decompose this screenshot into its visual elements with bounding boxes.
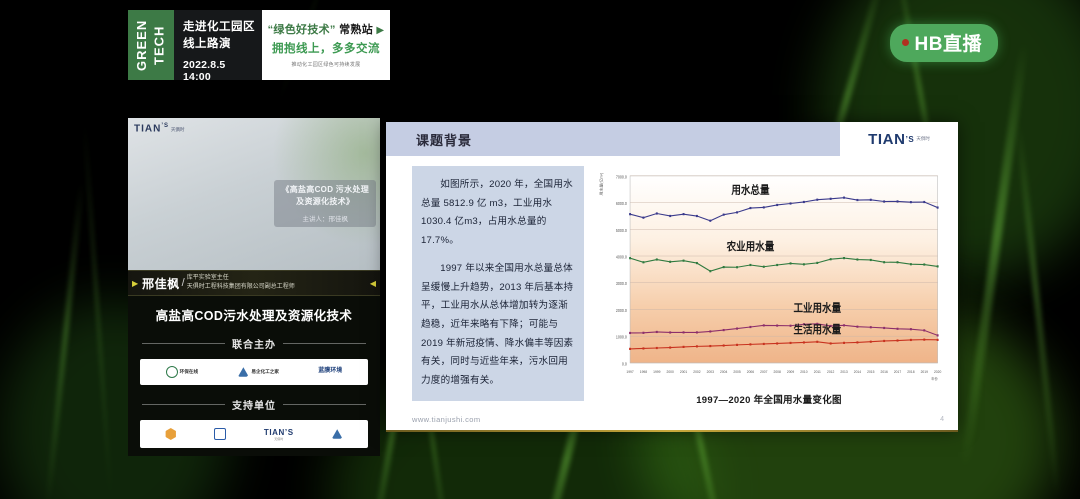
svg-text:2001: 2001 [680,370,687,374]
svg-text:2012: 2012 [827,370,834,374]
presentation-slide[interactable]: 课题背景 TIAN’S天俱时 如图所示，2020 年，全国用水总量 5812.9… [386,122,958,430]
slide-header: 课题背景 TIAN’S天俱时 [386,122,958,156]
video-title-overlay: 《高盐高COD 污水处理 及资源化技术》 主讲人：邢佳枫 [274,180,376,227]
svg-text:2000: 2000 [667,370,674,374]
svg-text:2014: 2014 [854,370,861,374]
svg-text:2010: 2010 [800,370,807,374]
coorganizer-logo-strip: 环保在线 易企化工之家 蓝膜环境 [140,359,368,385]
tians-support-name: TIAN’S [264,428,294,437]
live-badge-label: HB直播 [915,29,982,56]
svg-text:6000.0: 6000.0 [616,201,628,206]
svg-text:1997: 1997 [626,370,633,374]
watermark-text: TIAN [134,123,161,134]
overlay-title-line2: 及资源化技术》 [281,196,369,208]
svg-text:2016: 2016 [881,370,888,374]
banner-event-line1: 走进化工园区 [183,19,256,36]
svg-text:2004: 2004 [720,370,727,374]
greentech-line2: TECH [152,25,167,64]
slide-logo-sup: ’S [906,135,915,144]
svg-text:1999: 1999 [653,370,660,374]
svg-text:用水总量: 用水总量 [730,183,770,197]
coorganizer-section-heading: 联合主办 [128,336,380,351]
slide-logo-sub: 天俱时 [916,136,930,142]
banner-slogan: “绿色好技术” 常熟站 ▶ 拥抱线上，多多交流 推动化工园区绿色可持续发展 [262,10,390,80]
slide-title: 课题背景 [416,130,472,149]
support-section-heading: 支持单位 [128,397,380,412]
banner-slogan-station: 常熟站 [336,24,373,36]
slide-page-number: 4 [940,416,944,423]
banner-slogan-line2: 拥抱线上，多多交流 [266,40,386,56]
arrow-left-icon: ◀ [370,279,376,288]
shield-logo-icon [214,428,226,440]
overlay-title-line1: 《高盐高COD 污水处理 [281,184,369,196]
speaker-name: 邢佳枫 [142,275,180,292]
svg-text:1998: 1998 [640,370,647,374]
svg-text:2008: 2008 [774,370,781,374]
greentech-logo: GREEN TECH [128,10,174,80]
coorganizer-heading-label: 联合主办 [232,336,276,351]
tians-support-logo: TIAN’S 天俱时 [264,428,294,441]
line-chart: 0.01000.02000.03000.04000.05000.06000.07… [594,166,944,390]
svg-text:2009: 2009 [787,370,794,374]
svg-text:2005: 2005 [733,370,740,374]
svg-text:1000.0: 1000.0 [616,334,628,339]
svg-text:2011: 2011 [814,370,821,374]
svg-text:2006: 2006 [747,370,754,374]
svg-text:年份: 年份 [931,376,938,381]
svg-text:4000.0: 4000.0 [616,254,628,259]
svg-text:2002: 2002 [693,370,700,374]
live-stream-badge[interactable]: HB直播 [890,24,998,62]
chart-caption: 1997—2020 年全国用水量变化图 [594,392,944,406]
partner-logo-name: 环保在线 [180,369,198,375]
svg-text:2018: 2018 [907,370,914,374]
svg-text:农业用水量: 农业用水量 [726,240,775,254]
banner-event-date: 2022.8.5 14:00 [183,59,256,83]
svg-text:5000.0: 5000.0 [616,227,628,232]
svg-text:2000.0: 2000.0 [616,308,628,313]
slide-bottom-edge [386,430,958,432]
svg-text:2020: 2020 [934,370,941,374]
chart-svg: 0.01000.02000.03000.04000.05000.06000.07… [594,166,944,390]
svg-text:生活用水量: 生活用水量 [793,322,841,336]
slide-logo-main: TIAN [868,131,905,148]
speaker-role-line2: 天俱时工程科技集团有限公司副总工程师 [187,283,295,292]
partner-logo: 环保在线 [166,366,198,378]
tians-support-sub: 天俱时 [264,437,294,441]
video-player[interactable]: TIAN’S天俱时 《高盐高COD 污水处理 及资源化技术》 主讲人：邢佳枫 [128,118,380,270]
svg-text:2015: 2015 [867,370,874,374]
svg-text:2013: 2013 [840,370,847,374]
slide-title-bar: 课题背景 [386,122,840,156]
svg-text:用水量(亿m³): 用水量(亿m³) [599,173,604,196]
support-logo-strip: TIAN’S 天俱时 [140,420,368,448]
partner-logo: 蓝膜环境 [318,368,342,376]
event-banner: GREEN TECH 走进化工园区 线上路演 2022.8.5 14:00 “绿… [128,10,390,80]
overlay-speaker-name: 主讲人：邢佳枫 [281,213,369,223]
slide-tians-logo: TIAN’S天俱时 [840,131,958,148]
slide-text-box: 如图所示，2020 年，全国用水总量 5812.9 亿 m3，工业用水 1030… [412,166,584,401]
banner-slogan-quoted: “绿色好技术” [268,24,336,36]
slide-footer-url: www.tianjushi.com [412,415,481,424]
arrow-right-icon: ▶ [132,279,138,288]
svg-text:3000.0: 3000.0 [616,281,628,286]
svg-text:2017: 2017 [894,370,901,374]
svg-text:7000.0: 7000.0 [616,174,628,179]
svg-text:2003: 2003 [707,370,714,374]
partner-logo-name: 易企化工之家 [251,369,279,375]
chart-area: 0.01000.02000.03000.04000.05000.06000.07… [594,166,944,406]
watermark-sub: 天俱时 [171,127,185,132]
support-heading-label: 支持单位 [232,397,276,412]
slide-footer: www.tianjushi.com 4 [386,408,958,430]
slide-body: 如图所示，2020 年，全国用水总量 5812.9 亿 m3，工业用水 1030… [386,156,958,406]
svg-text:2019: 2019 [921,370,928,374]
banner-slogan-line3: 推动化工园区绿色可持续发展 [266,61,386,68]
slide-paragraph-1: 如图所示，2020 年，全国用水总量 5812.9 亿 m3，工业用水 1030… [421,176,575,251]
nameplate-separator: / [182,277,185,289]
speaker-role-line1: 库平实验室主任 [187,274,295,283]
banner-event-info: 走进化工园区 线上路演 2022.8.5 14:00 [174,10,262,80]
hexagon-logo-icon [165,428,177,440]
presentation-topic-title: 高盐高COD污水处理及资源化技术 [128,305,380,324]
speaker-nameplate: ▶ 邢佳枫 / 库平实验室主任 天俱时工程科技集团有限公司副总工程师 ◀ [128,270,380,296]
slide-paragraph-2: 1997 年以来全国用水总量总体呈缓慢上升趋势，2013 年后基本持平，工业用水… [421,260,575,391]
tians-watermark-logo: TIAN’S天俱时 [134,123,185,134]
mountain-logo-icon [331,428,343,440]
partner-logo: 易企化工之家 [237,366,279,378]
svg-text:0.0: 0.0 [622,361,628,366]
watermark-sup: ’S [161,123,169,129]
play-triangle-icon: ▶ [376,25,384,36]
banner-event-line2: 线上路演 [183,36,256,53]
svg-text:工业用水量: 工业用水量 [793,301,841,315]
partner-logo-name: 蓝膜环境 [318,368,342,376]
speaker-panel: TIAN’S天俱时 《高盐高COD 污水处理 及资源化技术》 主讲人：邢佳枫 ▶… [128,118,380,456]
circle-logo-icon [166,366,178,378]
greentech-line1: GREEN [134,19,149,70]
triangle-logo-icon [237,366,249,378]
svg-text:2007: 2007 [760,370,767,374]
live-dot-icon [902,39,909,46]
